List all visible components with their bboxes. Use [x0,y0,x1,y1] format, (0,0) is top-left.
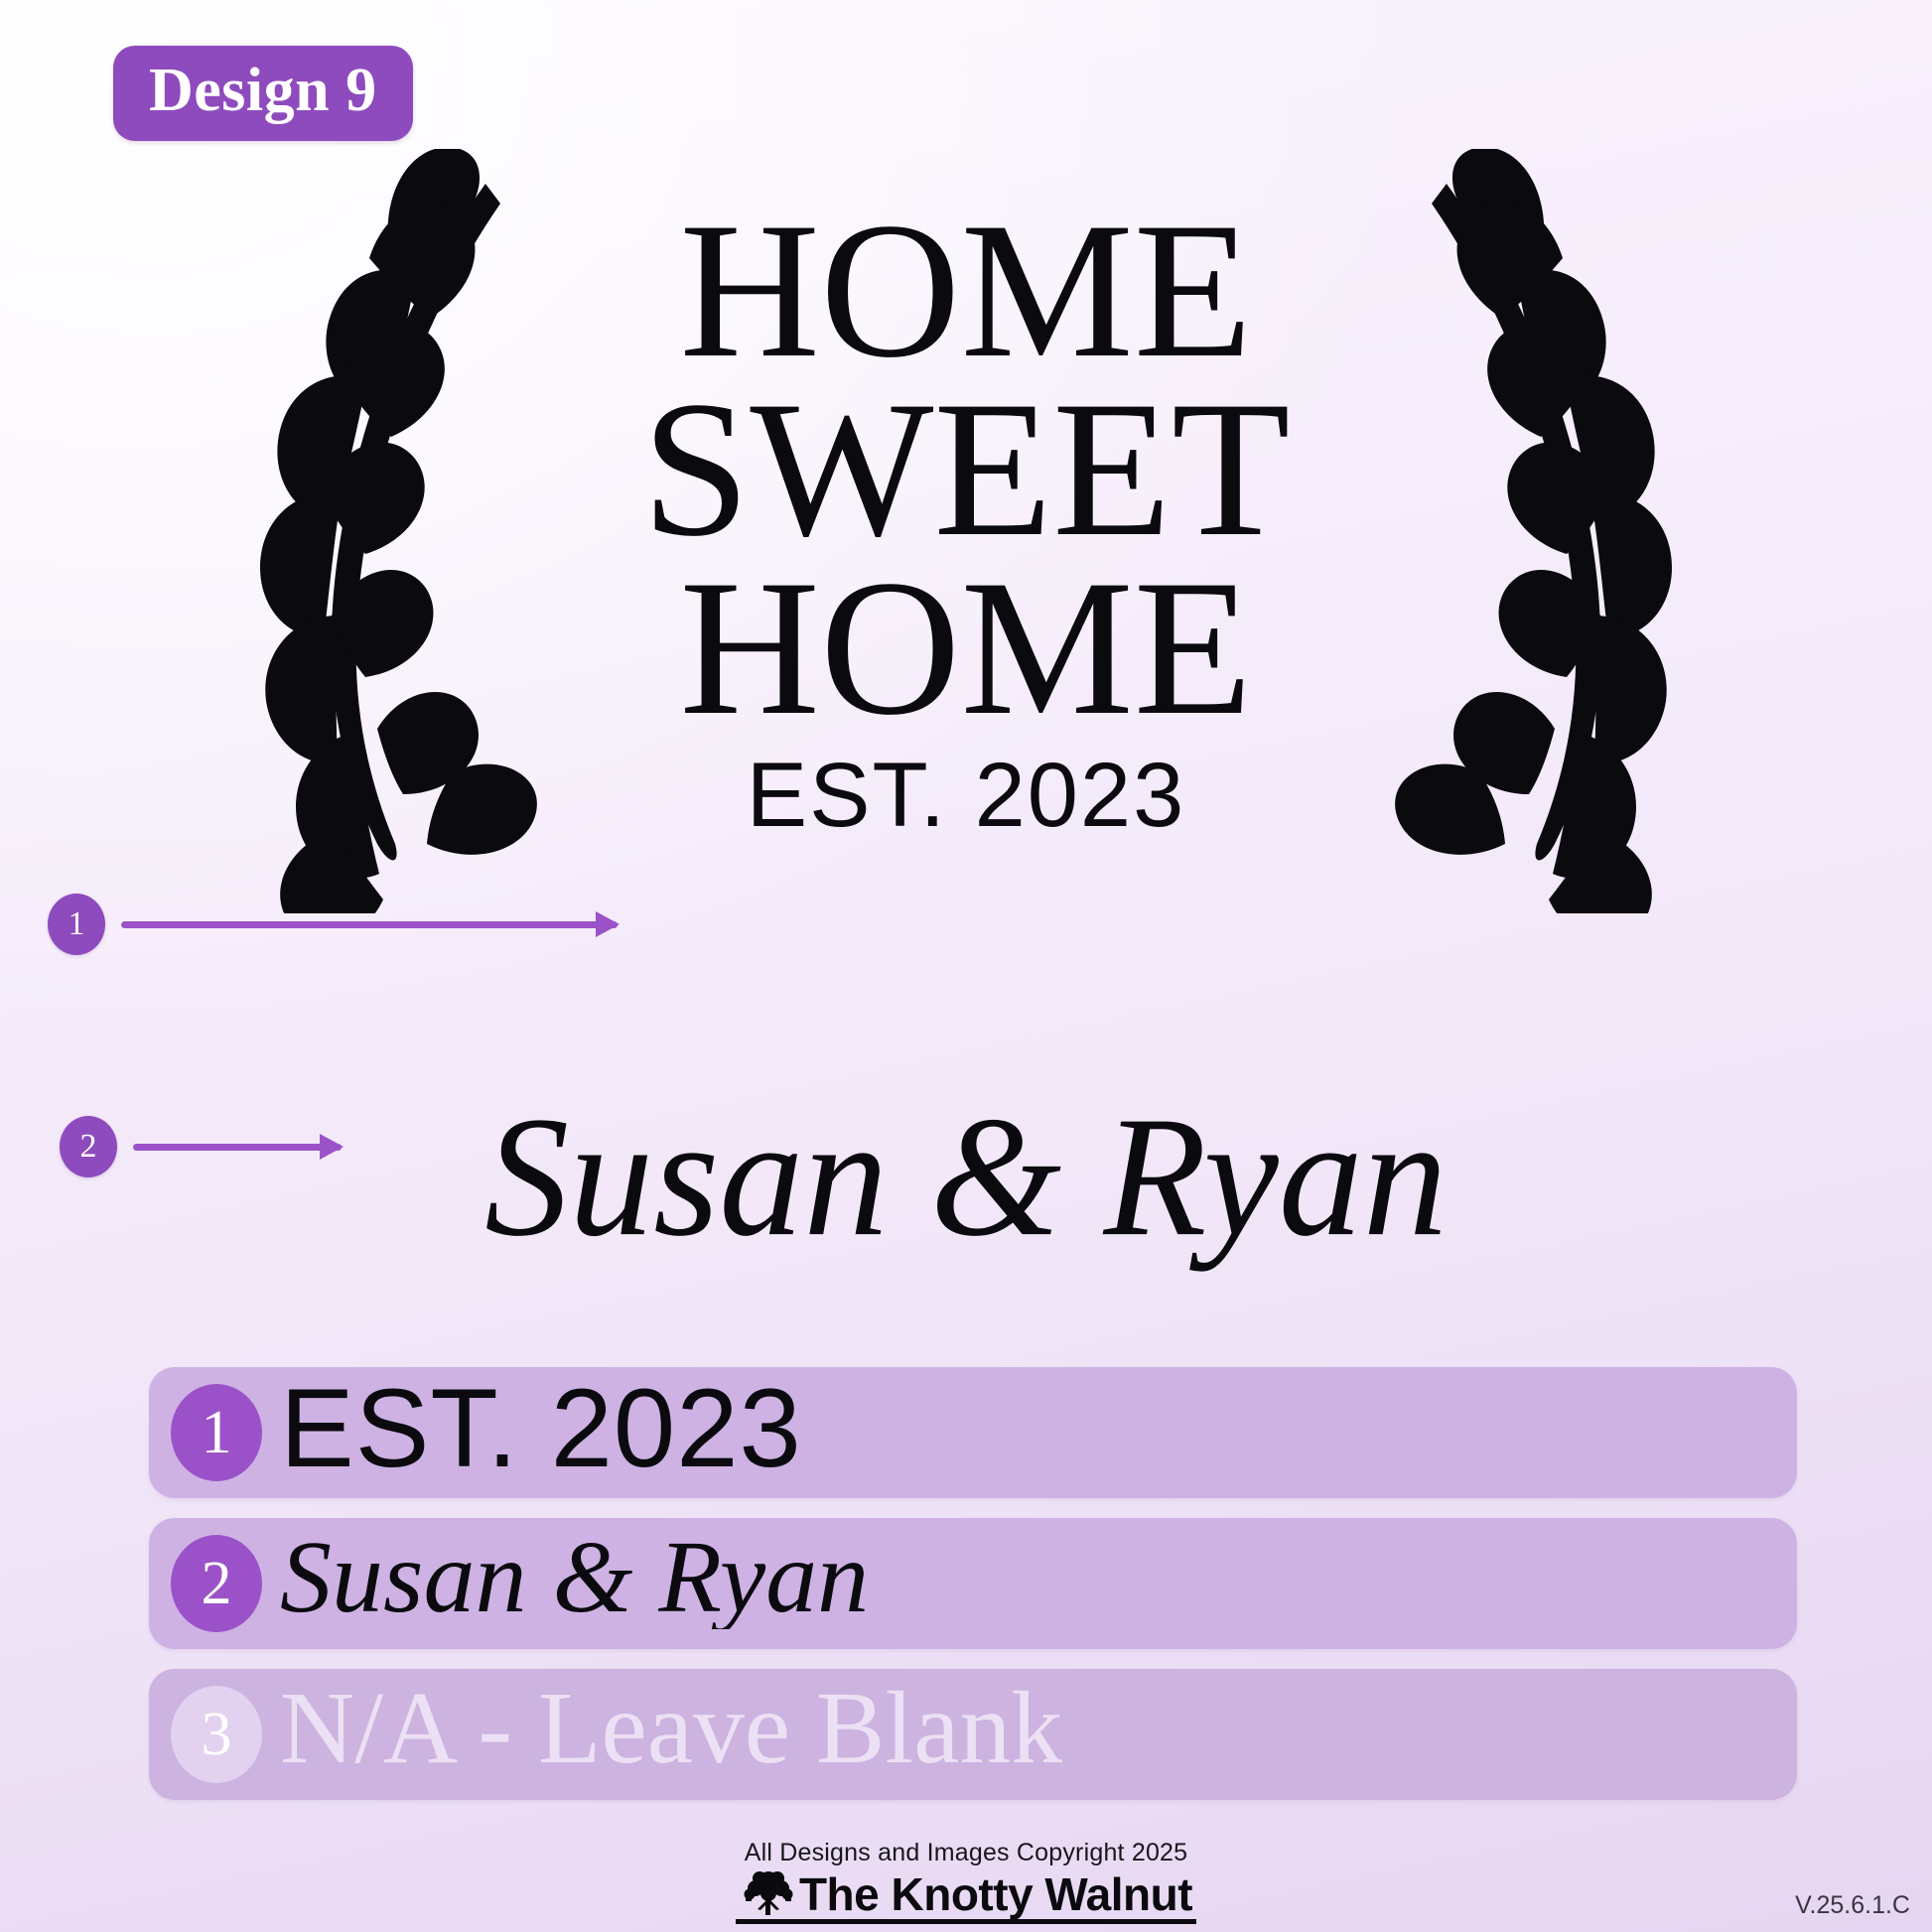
design-number-badge: Design 9 [113,46,413,141]
copyright-text: All Designs and Images Copyright 2025 [0,1839,1932,1867]
brand-lockup: The Knotty Walnut [736,1869,1196,1924]
legend-row-3-number: 3 [171,1686,262,1783]
legend-row[interactable]: 1 EST. 2023 [149,1367,1797,1498]
version-label: V.25.6.1.C [1795,1891,1910,1920]
legend-row[interactable]: 3 N/A - Leave Blank [149,1669,1797,1800]
callout-2-leader [133,1143,342,1151]
brand-name: The Knotty Walnut [799,1873,1192,1917]
arrow-head-icon [596,911,620,937]
legend-row-1-number: 1 [171,1384,262,1481]
legend-row-1-value: EST. 2023 [280,1373,802,1484]
legend-row-2-value: Susan & Ryan [280,1526,869,1629]
design-preview-canvas: Design 9 [0,0,1932,1932]
personalization-legend: 1 EST. 2023 2 Susan & Ryan 3 N/A - Leave… [149,1367,1797,1820]
callout-1-leader [121,920,618,928]
arrow-head-icon [320,1134,344,1160]
callout-1: 1 [48,894,618,955]
legend-row[interactable]: 2 Susan & Ryan [149,1518,1797,1649]
footer: All Designs and Images Copyright 2025 [0,1839,1932,1924]
callout-2-number: 2 [60,1116,117,1177]
callout-1-rule [121,921,618,928]
legend-row-3-value: N/A - Leave Blank [280,1677,1062,1780]
tree-icon [740,1869,797,1917]
callout-2-rule [133,1144,342,1151]
callout-2: 2 [60,1116,342,1177]
legend-row-2-number: 2 [171,1535,262,1632]
artwork-preview: HOME SWEET HOME EST. 2023 [0,149,1932,913]
headline-line-3: HOME [679,540,1252,756]
callout-1-number: 1 [48,894,105,955]
established-text: EST. 2023 [747,745,1186,846]
